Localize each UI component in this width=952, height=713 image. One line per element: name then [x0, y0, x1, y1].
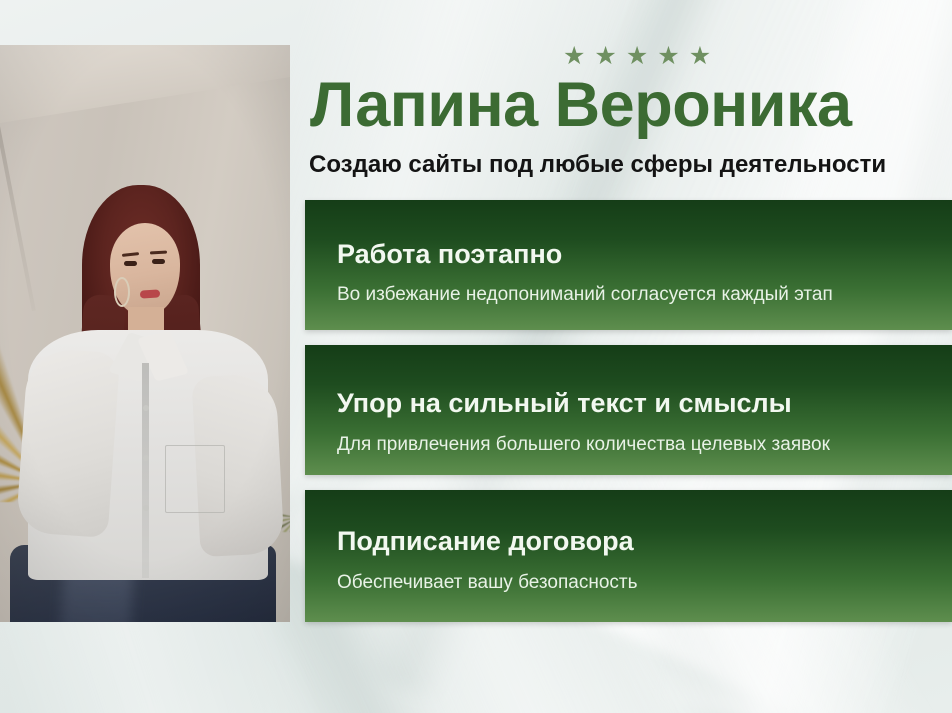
page-subtitle: Создаю сайты под любые сферы деятельност… — [309, 152, 886, 178]
benefit-card[interactable]: Подписание договора Обеспечивает вашу бе… — [305, 490, 952, 622]
star-icon: ★ — [563, 44, 585, 69]
star-rating: ★ ★ ★ ★ ★ — [563, 44, 711, 69]
promo-banner: ★ ★ ★ ★ ★ Лапина Вероника Создаю сайты п… — [0, 0, 952, 713]
benefit-card-title: Подписание договора — [337, 528, 634, 555]
benefit-card-subtitle: Для привлечения большего количества целе… — [337, 435, 830, 454]
star-icon: ★ — [689, 44, 711, 69]
benefit-card-subtitle: Обеспечивает вашу безопасность — [337, 573, 637, 592]
photo-vignette — [0, 45, 290, 622]
star-icon: ★ — [657, 44, 679, 69]
star-icon: ★ — [594, 44, 616, 69]
benefit-card-subtitle: Во избежание недопониманий согласуется к… — [337, 285, 833, 304]
benefit-card-title: Работа поэтапно — [337, 241, 562, 268]
benefit-card-list: Работа поэтапно Во избежание недопониман… — [305, 200, 952, 622]
portrait-photo — [0, 45, 290, 622]
benefit-card[interactable]: Работа поэтапно Во избежание недопониман… — [305, 200, 952, 330]
benefit-card-title: Упор на сильный текст и смыслы — [337, 390, 792, 417]
page-title: Лапина Вероника — [310, 74, 852, 137]
benefit-card[interactable]: Упор на сильный текст и смыслы Для привл… — [305, 345, 952, 475]
star-icon: ★ — [626, 44, 648, 69]
